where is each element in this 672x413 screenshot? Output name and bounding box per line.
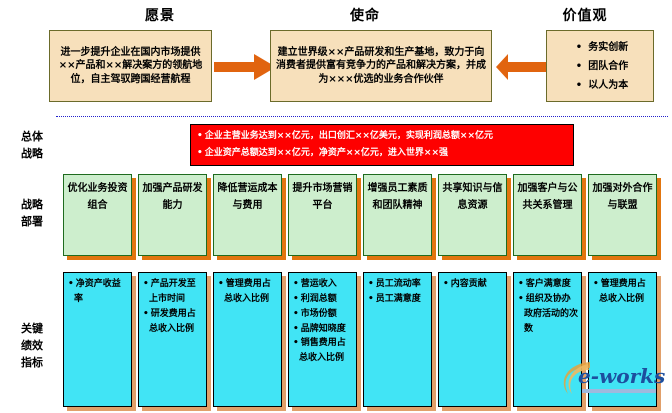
overall-strategy-list: 企业主营业务达到××亿元，出口创汇××亿美元，实现利润总额××亿元 企业资产总额… bbox=[197, 128, 567, 162]
kpi-item: 客户满意度 bbox=[517, 277, 579, 292]
kpi-item: 管理费用占总收入比例 bbox=[592, 277, 654, 307]
kpi-item: 销售费用占总收入比例 bbox=[292, 336, 354, 366]
kpi-card-2[interactable]: 产品开发至上市时间 研发费用占总收入比例 bbox=[138, 272, 207, 407]
strategy-card-3[interactable]: 降低营运成本与费用 bbox=[213, 174, 282, 256]
vision-text: 进一步提升企业在国内市场提供××产品和××解决案方的领航地位，自主驾驭跨国经营航… bbox=[50, 44, 211, 89]
values-list: 务实创新 团队合作 以人为本 bbox=[572, 38, 628, 95]
kpi-item: 研发费用占总收入比例 bbox=[142, 307, 204, 337]
kpi-card-4[interactable]: 营运收入 利润总额 市场份额 品牌知晓度 销售费用占总收入比例 bbox=[288, 272, 357, 407]
values-box: 务实创新 团队合作 以人为本 bbox=[546, 30, 654, 102]
kpi-item: 员工满意度 bbox=[367, 292, 429, 307]
strategy-card-5[interactable]: 增强员工素质和团队精神 bbox=[363, 174, 432, 256]
kpi-item: 利润总额 bbox=[292, 292, 354, 307]
values-list-item: 团队合作 bbox=[576, 57, 628, 76]
overall-strategy-band: 企业主营业务达到××亿元，出口创汇××亿美元，实现利润总额××亿元 企业资产总额… bbox=[190, 124, 574, 166]
column-heading-mission: 使命 bbox=[305, 5, 425, 25]
row-label-kpi: 关键绩效指标 bbox=[6, 320, 58, 371]
strategy-card-label: 增强员工素质和团队精神 bbox=[364, 175, 431, 214]
mission-text: 建立世界级××产品研发和生产基地，致力于向消费者提供富有竞争力的产品和解决方案，… bbox=[271, 44, 491, 89]
section-divider bbox=[56, 116, 668, 117]
vision-to-mission-arrow bbox=[214, 54, 276, 80]
row-label-overall-strategy: 总体战略 bbox=[6, 128, 58, 162]
kpi-card-1[interactable]: 净资产收益率 bbox=[63, 272, 132, 407]
strategy-card-8[interactable]: 加强对外合作与联盟 bbox=[588, 174, 657, 256]
kpi-card-6[interactable]: 内容贡献 bbox=[438, 272, 507, 407]
kpi-item: 内容贡献 bbox=[442, 277, 504, 292]
column-heading-values: 价值观 bbox=[525, 5, 645, 25]
strategy-card-label: 加强客户与公共关系管理 bbox=[514, 175, 581, 214]
kpi-card-3[interactable]: 管理费用占总收入比例 bbox=[213, 272, 282, 407]
kpi-list: 管理费用占总收入比例 bbox=[589, 273, 656, 307]
strategy-card-label: 降低营运成本与费用 bbox=[214, 175, 281, 214]
kpi-item: 产品开发至上市时间 bbox=[142, 277, 204, 307]
strategy-card-label: 共享知识与信息资源 bbox=[439, 175, 506, 214]
kpi-item: 管理费用占总收入比例 bbox=[217, 277, 279, 307]
overall-strategy-item: 企业资产总额达到××亿元，净资产××亿元，进入世界××强 bbox=[197, 145, 567, 162]
strategy-card-label: 加强产品研发能力 bbox=[139, 175, 206, 214]
kpi-list: 客户满意度 组织及协办政府活动的次数 bbox=[514, 273, 581, 336]
strategy-card-1[interactable]: 优化业务投资组合 bbox=[63, 174, 132, 256]
kpi-item: 品牌知晓度 bbox=[292, 322, 354, 337]
kpi-list: 内容贡献 bbox=[439, 273, 506, 292]
overall-strategy-item: 企业主营业务达到××亿元，出口创汇××亿美元，实现利润总额××亿元 bbox=[197, 128, 567, 145]
kpi-list: 营运收入 利润总额 市场份额 品牌知晓度 销售费用占总收入比例 bbox=[289, 273, 356, 366]
strategy-card-2[interactable]: 加强产品研发能力 bbox=[138, 174, 207, 256]
mission-box: 建立世界级××产品研发和生产基地，致力于向消费者提供富有竞争力的产品和解决方案，… bbox=[270, 30, 492, 102]
strategy-card-label: 优化业务投资组合 bbox=[64, 175, 131, 214]
kpi-list: 产品开发至上市时间 研发费用占总收入比例 bbox=[139, 273, 206, 336]
strategy-card-6[interactable]: 共享知识与信息资源 bbox=[438, 174, 507, 256]
strategy-map-diagram: 愿景 使命 价值观 进一步提升企业在国内市场提供××产品和××解决案方的领航地位… bbox=[0, 0, 672, 413]
values-list-item: 务实创新 bbox=[576, 38, 628, 57]
kpi-item: 营运收入 bbox=[292, 277, 354, 292]
kpi-card-5[interactable]: 员工流动率 员工满意度 bbox=[363, 272, 432, 407]
values-list-item: 以人为本 bbox=[576, 76, 628, 95]
vision-box: 进一步提升企业在国内市场提供××产品和××解决案方的领航地位，自主驾驭跨国经营航… bbox=[49, 30, 212, 102]
kpi-item: 组织及协办政府活动的次数 bbox=[517, 292, 579, 337]
kpi-item: 员工流动率 bbox=[367, 277, 429, 292]
strategy-card-4[interactable]: 提升市场营销平台 bbox=[288, 174, 357, 256]
kpi-card-8[interactable]: 管理费用占总收入比例 bbox=[588, 272, 657, 407]
kpi-list: 员工流动率 员工满意度 bbox=[364, 273, 431, 307]
kpi-card-7[interactable]: 客户满意度 组织及协办政府活动的次数 bbox=[513, 272, 582, 407]
strategy-card-label: 加强对外合作与联盟 bbox=[589, 175, 656, 214]
kpi-list: 净资产收益率 bbox=[64, 273, 131, 307]
kpi-list: 管理费用占总收入比例 bbox=[214, 273, 281, 307]
strategy-card-label: 提升市场营销平台 bbox=[289, 175, 356, 214]
strategy-card-7[interactable]: 加强客户与公共关系管理 bbox=[513, 174, 582, 256]
kpi-item: 净资产收益率 bbox=[67, 277, 129, 307]
column-heading-vision: 愿景 bbox=[100, 5, 220, 25]
values-to-mission-arrow bbox=[496, 54, 548, 80]
kpi-item: 市场份额 bbox=[292, 307, 354, 322]
row-label-strategy-deployment: 战略部署 bbox=[6, 196, 58, 230]
